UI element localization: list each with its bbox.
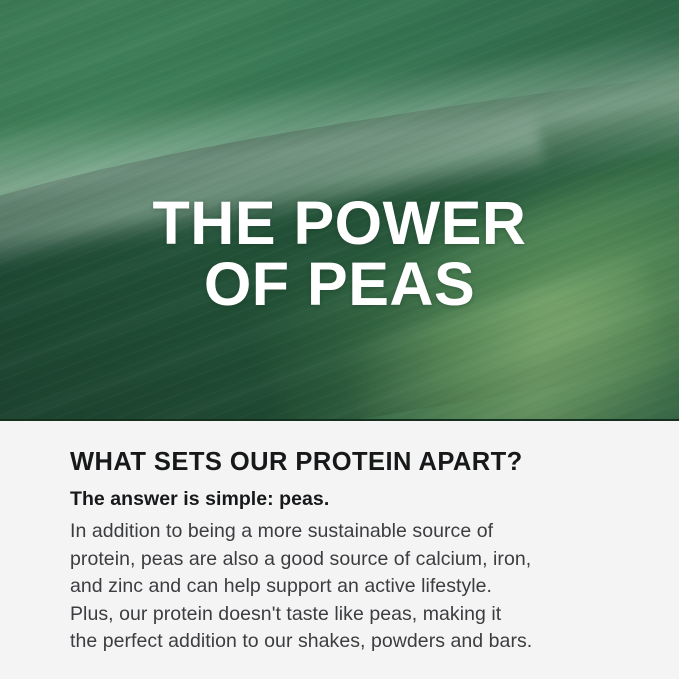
- body-line: In addition to being a more sustainable …: [70, 518, 622, 546]
- hero-title-line-1: THE POWER: [0, 193, 679, 254]
- body-line: Plus, our protein doesn't taste like pea…: [70, 601, 622, 629]
- hero-title: THE POWER OF PEAS: [0, 193, 679, 315]
- hero-title-line-2: OF PEAS: [0, 254, 679, 315]
- info-panel-content: WHAT SETS OUR PROTEIN APART? The answer …: [70, 447, 622, 656]
- hero-banner: THE POWER OF PEAS: [0, 0, 679, 421]
- body-line: the perfect addition to our shakes, powd…: [70, 628, 622, 656]
- body-line: protein, peas are also a good source of …: [70, 546, 622, 574]
- panel-body-text: In addition to being a more sustainable …: [70, 518, 622, 656]
- panel-heading: WHAT SETS OUR PROTEIN APART?: [70, 447, 622, 477]
- panel-subheading: The answer is simple: peas.: [70, 487, 622, 511]
- info-panel: WHAT SETS OUR PROTEIN APART? The answer …: [0, 421, 679, 679]
- body-line: and zinc and can help support an active …: [70, 573, 622, 601]
- product-info-card: THE POWER OF PEAS WHAT SETS OUR PROTEIN …: [0, 0, 679, 679]
